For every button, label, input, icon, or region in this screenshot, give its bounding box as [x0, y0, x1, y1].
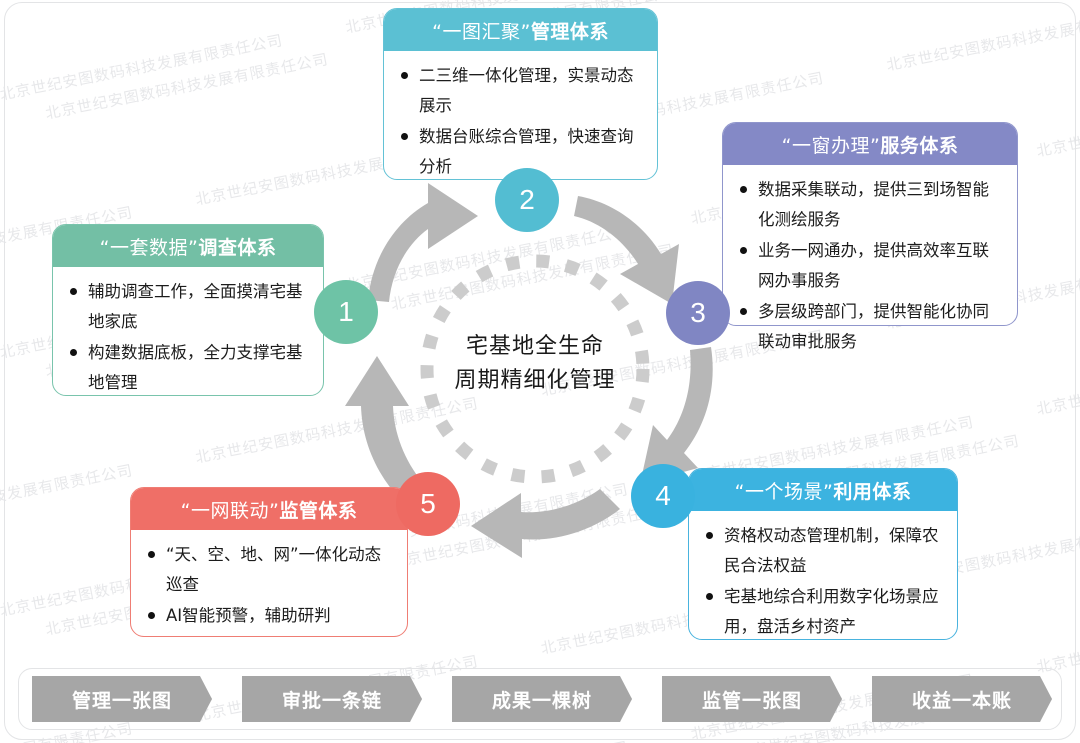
step-badge-3[interactable]: 3 [666, 281, 730, 345]
chip-management-one-map[interactable]: 管理一张图 [32, 676, 212, 722]
center-label-line2: 周期精细化管理 [410, 364, 660, 398]
card-one-window-service[interactable]: “一窗办理”服务体系 数据采集联动，提供三到场智能化测绘服务 业务一网通办，提供… [722, 122, 1018, 326]
card-one-title-rest: 调查体系 [198, 233, 276, 260]
list-item: 构建数据底板，全力支撑宅基地管理 [69, 338, 309, 398]
card-three-body: 数据采集联动，提供三到场智能化测绘服务 业务一网通办，提供高效率互联网办事服务 … [723, 165, 1017, 368]
list-item: 辅助调查工作，全面摸清宅基地家底 [69, 277, 309, 337]
list-item: 数据采集联动，提供三到场智能化测绘服务 [739, 175, 1003, 235]
card-one-network-supervision[interactable]: “一网联动”监管体系 “天、空、地、网”一体化动态巡查 AI智能预警，辅助研判 [130, 487, 408, 637]
chip-approval-one-chain[interactable]: 审批一条链 [242, 676, 422, 722]
card-three-title-quoted: “一窗办理” [782, 131, 881, 158]
card-one-map-aggregation[interactable]: “一图汇聚”管理体系 二三维一体化管理，实景动态展示 数据台账综合管理，快速查询… [383, 8, 658, 180]
card-one-title-quoted: “一套数据” [100, 233, 199, 260]
card-three-title-rest: 服务体系 [880, 131, 958, 158]
card-four-header: “一个场景”利用体系 [689, 469, 957, 511]
card-one-header: “一套数据”调查体系 [53, 225, 323, 267]
card-two-title-rest: 管理体系 [531, 17, 609, 44]
card-one-set-of-data[interactable]: “一套数据”调查体系 辅助调查工作，全面摸清宅基地家底 构建数据底板，全力支撑宅… [52, 224, 324, 396]
card-five-title-rest: 监管体系 [279, 496, 357, 523]
center-label-line1: 宅基地全生命 [410, 330, 660, 364]
card-three-header: “一窗办理”服务体系 [723, 123, 1017, 165]
step-badge-2[interactable]: 2 [495, 168, 559, 232]
diagram-canvas: 北京世纪安图数码科技发展有限责任公司北京世纪安图数码科技发展有限责任公司北京世纪… [0, 0, 1080, 743]
chip-revenue-one-ledger[interactable]: 收益一本账 [872, 676, 1052, 722]
list-item: 资格权动态管理机制，保障农民合法权益 [705, 521, 943, 581]
card-four-title-rest: 利用体系 [833, 477, 911, 504]
chip-supervision-one-map[interactable]: 监管一张图 [662, 676, 842, 722]
chip-results-one-tree[interactable]: 成果一棵树 [452, 676, 632, 722]
step-badge-5[interactable]: 5 [396, 472, 460, 536]
center-hub: 宅基地全生命 周期精细化管理 [410, 268, 660, 470]
card-two-header: “一图汇聚”管理体系 [384, 9, 657, 51]
card-one-body: 辅助调查工作，全面摸清宅基地家底 构建数据底板，全力支撑宅基地管理 [53, 267, 323, 409]
card-four-title-quoted: “一个场景” [735, 477, 834, 504]
list-item: AI智能预警，辅助研判 [147, 601, 393, 631]
card-five-title-quoted: “一网联动” [181, 496, 280, 523]
card-five-header: “一网联动”监管体系 [131, 488, 407, 530]
card-two-title-quoted: “一图汇聚” [432, 17, 531, 44]
card-five-body: “天、空、地、网”一体化动态巡查 AI智能预警，辅助研判 [131, 530, 407, 642]
list-item: 多层级跨部门，提供智能化协同联动审批服务 [739, 297, 1003, 357]
card-four-body: 资格权动态管理机制，保障农民合法权益 宅基地综合利用数字化场景应用，盘活乡村资产 [689, 511, 957, 653]
list-item: “天、空、地、网”一体化动态巡查 [147, 540, 393, 600]
list-item: 二三维一体化管理，实景动态展示 [400, 61, 643, 121]
step-badge-4[interactable]: 4 [631, 464, 695, 528]
list-item: 业务一网通办，提供高效率互联网办事服务 [739, 236, 1003, 296]
card-one-scenario-utilization[interactable]: “一个场景”利用体系 资格权动态管理机制，保障农民合法权益 宅基地综合利用数字化… [688, 468, 958, 640]
center-label: 宅基地全生命 周期精细化管理 [410, 330, 660, 398]
list-item: 宅基地综合利用数字化场景应用，盘活乡村资产 [705, 582, 943, 642]
step-badge-1[interactable]: 1 [314, 280, 378, 344]
